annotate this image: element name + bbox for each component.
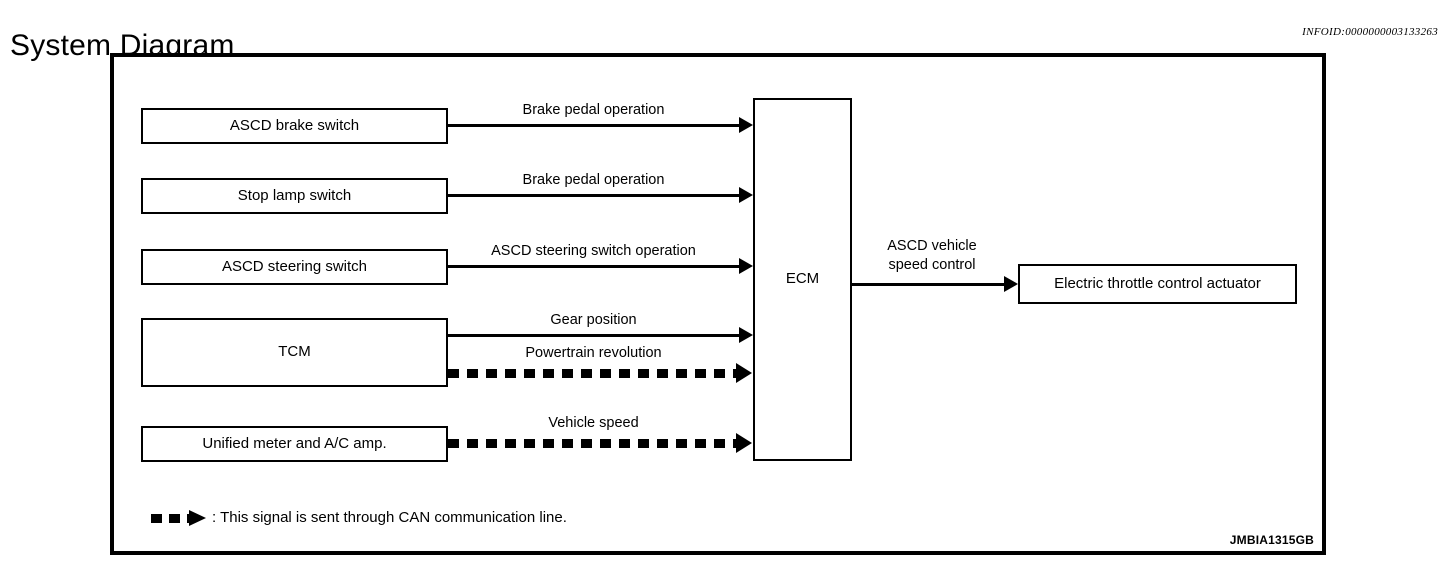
arrow-head-icon [739, 327, 753, 343]
arrow-head-icon [739, 117, 753, 133]
edge-line-powertrain-revolution-can [448, 369, 736, 378]
edge-label-gear-position: Gear position [448, 311, 739, 330]
edge-line-brake-pedal-operation-1 [448, 124, 739, 127]
edge-label-powertrain-revolution: Powertrain revolution [448, 344, 739, 363]
diagram-frame: ASCD brake switch Stop lamp switch ASCD … [110, 53, 1326, 555]
edge-line-brake-pedal-operation-2 [448, 194, 739, 197]
edge-line-ascd-vehicle-speed-control [852, 283, 1007, 286]
node-label: Stop lamp switch [238, 187, 351, 206]
edge-label-ascd-vehicle-speed-control-line1: ASCD vehicle [852, 237, 1012, 256]
edge-line-ascd-steering-switch-operation [448, 265, 739, 268]
legend-text: : This signal is sent through CAN commun… [212, 509, 567, 526]
node-label: ECM [786, 270, 819, 289]
node-label: ASCD brake switch [230, 117, 359, 136]
node-ascd-brake-switch[interactable]: ASCD brake switch [141, 108, 448, 144]
node-stop-lamp-switch[interactable]: Stop lamp switch [141, 178, 448, 214]
arrow-head-icon [736, 363, 752, 383]
arrow-head-icon [736, 433, 752, 453]
edge-line-vehicle-speed-can [448, 439, 736, 448]
node-unified-meter-ac-amp[interactable]: Unified meter and A/C amp. [141, 426, 448, 462]
arrow-head-icon [739, 187, 753, 203]
figure-code: JMBIA1315GB [1230, 533, 1314, 547]
node-label: Unified meter and A/C amp. [202, 435, 386, 454]
edge-label-ascd-vehicle-speed-control-line2: speed control [852, 256, 1012, 275]
node-label: ASCD steering switch [222, 258, 367, 277]
can-arrow-icon [151, 510, 207, 526]
edge-label-ascd-steering-switch-operation: ASCD steering switch operation [441, 242, 746, 261]
node-electric-throttle-control-actuator[interactable]: Electric throttle control actuator [1018, 264, 1297, 304]
node-ascd-steering-switch[interactable]: ASCD steering switch [141, 249, 448, 285]
arrow-head-icon [1004, 276, 1018, 292]
edge-label-brake-pedal-operation-1: Brake pedal operation [448, 101, 739, 120]
node-label: TCM [278, 343, 311, 362]
edge-label-brake-pedal-operation-2: Brake pedal operation [448, 171, 739, 190]
node-label: Electric throttle control actuator [1054, 275, 1261, 294]
can-arrow-bar [151, 514, 193, 523]
edge-line-gear-position [448, 334, 739, 337]
can-arrow-head [189, 510, 206, 526]
infoid-label: INFOID:0000000003133263 [1302, 26, 1438, 38]
edge-label-vehicle-speed: Vehicle speed [448, 414, 739, 433]
legend: : This signal is sent through CAN commun… [151, 509, 567, 526]
node-tcm[interactable]: TCM [141, 318, 448, 387]
node-ecm[interactable]: ECM [753, 98, 852, 461]
